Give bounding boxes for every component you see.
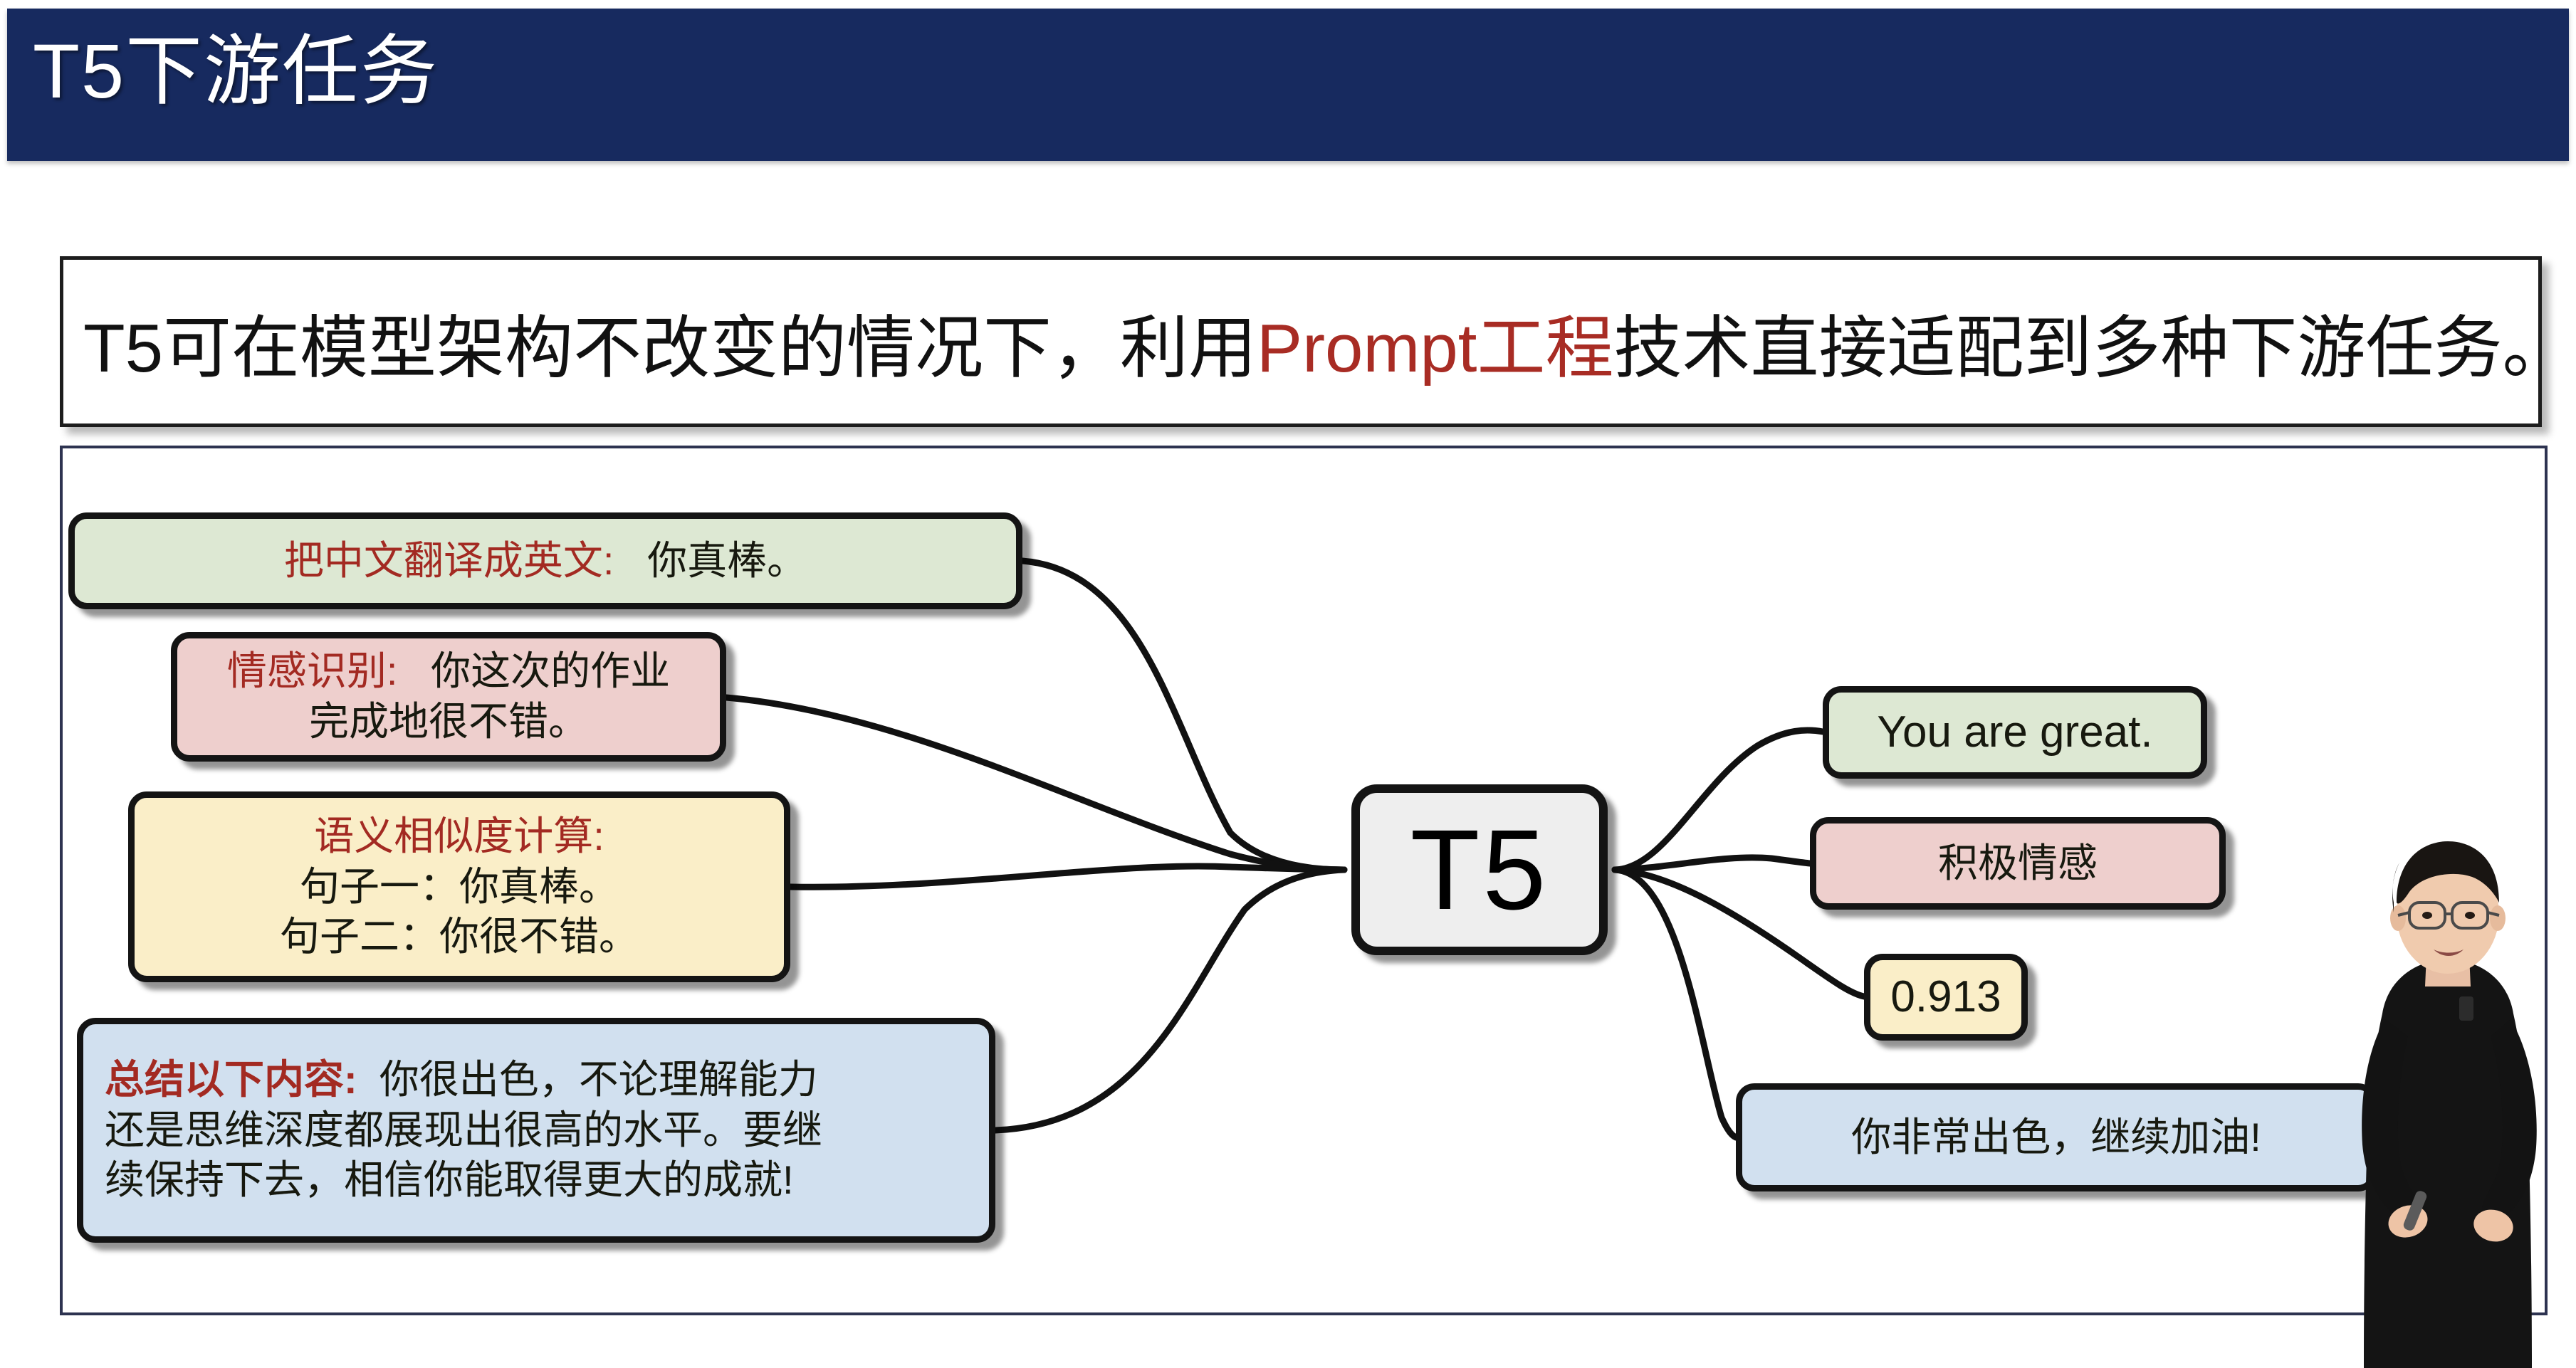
input-line-1: 总结以下内容: 你很出色，不论理解能力 — [105, 1055, 822, 1105]
output-text: 积极情感 — [1938, 838, 2098, 889]
statement-prefix: T5可在模型架构不改变的情况下，利用 — [83, 310, 1257, 386]
output-text: You are great. — [1877, 705, 2152, 760]
input-card-translate[interactable]: 把中文翻译成英文: 你真棒。 — [68, 512, 1022, 609]
input-prompt-label: 语义相似度计算: — [314, 811, 604, 862]
input-line: 把中文翻译成英文: 你真棒。 — [284, 536, 807, 586]
statement-box: T5可在模型架构不改变的情况下，利用Prompt工程技术直接适配到多种下游任务。 — [60, 256, 2542, 427]
statement-suffix: 技术直接适配到多种下游任务。 — [1613, 310, 2570, 386]
model-node-label: T5 — [1410, 813, 1549, 927]
output-card-similarity[interactable]: 0.913 — [1864, 954, 2028, 1041]
title-banner: T5下游任务 — [7, 9, 2569, 161]
output-text: 0.913 — [1890, 969, 2001, 1025]
input-prompt-label: 把中文翻译成英文: — [284, 538, 614, 583]
input-line: 情感识别: 你这次的作业 — [227, 646, 670, 697]
model-node-t5[interactable]: T5 — [1351, 784, 1608, 955]
output-card-summary[interactable]: 你非常出色，继续加油! — [1736, 1083, 2377, 1191]
statement-text: T5可在模型架构不改变的情况下，利用Prompt工程技术直接适配到多种下游任务。 — [63, 293, 2570, 391]
output-card-translate[interactable]: You are great. — [1823, 686, 2207, 779]
input-card-summary[interactable]: 总结以下内容: 你很出色，不论理解能力 还是思维深度都展现出很高的水平。要继 续… — [77, 1018, 995, 1243]
page-title: T5下游任务 — [33, 33, 439, 110]
output-card-sentiment[interactable]: 积极情感 — [1810, 817, 2226, 910]
input-sentence-1: 句子一：你真棒。 — [300, 862, 619, 912]
input-content: 你真棒。 — [647, 538, 807, 583]
input-line-3: 续保持下去，相信你能取得更大的成就! — [105, 1155, 822, 1206]
diagram-frame: 把中文翻译成英文: 你真棒。 情感识别: 你这次的作业 完成地很不错。 你这次的… — [60, 446, 2548, 1315]
statement-highlight: Prompt工程 — [1257, 310, 1613, 386]
input-body: 总结以下内容: 你很出色，不论理解能力 还是思维深度都展现出很高的水平。要继 续… — [83, 1055, 844, 1206]
input-card-sentiment[interactable]: 情感识别: 你这次的作业 完成地很不错。 你这次的作业完成地很不错。 — [171, 632, 726, 762]
input-card-similarity[interactable]: 语义相似度计算: 句子一：你真棒。 句子二：你很不错。 — [128, 791, 790, 982]
input-content-part-1: 你这次的作业 — [431, 648, 670, 693]
input-prompt-label: 总结以下内容: — [105, 1057, 357, 1102]
output-text: 你非常出色，继续加油! — [1851, 1112, 2261, 1163]
input-prompt-label: 情感识别: — [227, 648, 398, 693]
input-sentence-2: 句子二：你很不错。 — [280, 912, 639, 962]
input-content-part-2: 完成地很不错。 — [309, 697, 588, 747]
input-line-2: 还是思维深度都展现出很高的水平。要继 — [105, 1105, 822, 1156]
